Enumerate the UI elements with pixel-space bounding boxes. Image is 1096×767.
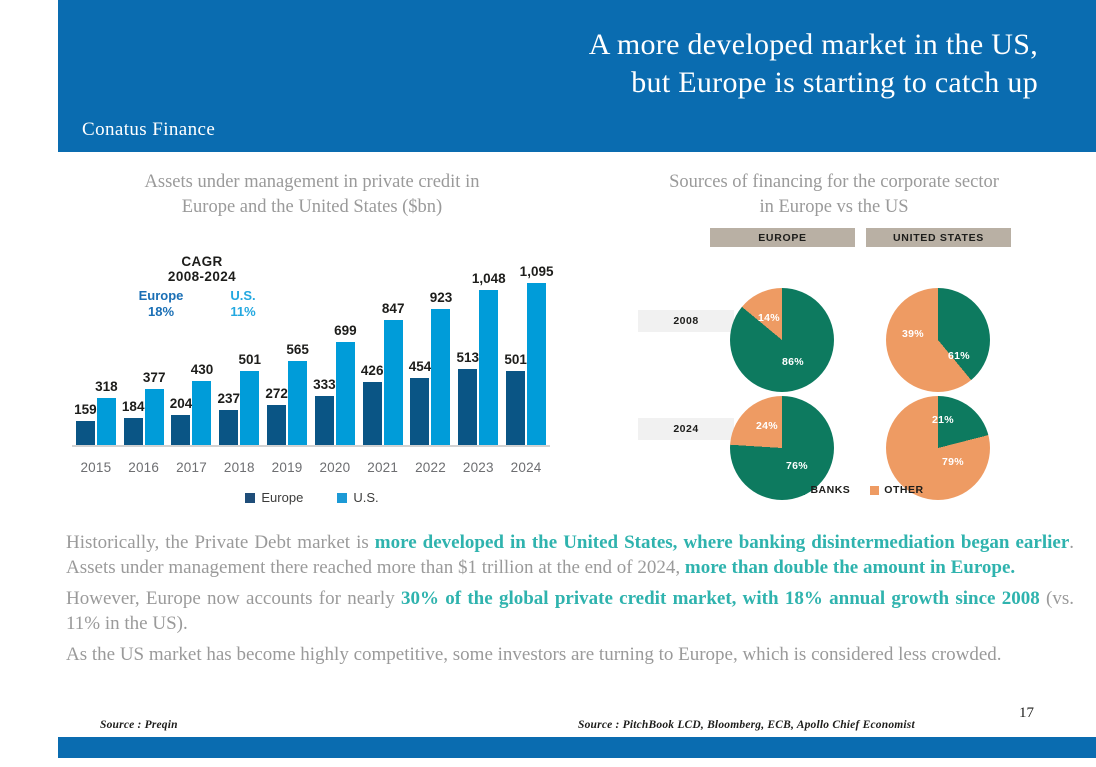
p2-highlight-1: 30% of the global private credit market,… xyxy=(401,588,1040,609)
bar-europe-2016: 184 xyxy=(124,418,143,445)
slide: A more developed market in the US, but E… xyxy=(0,0,1096,767)
x-axis-label-2023: 2023 xyxy=(452,460,504,475)
p1-highlight-2: more than double the amount in Europe. xyxy=(685,557,1015,578)
pie-column-header-europe: EUROPE xyxy=(710,228,855,247)
page-title-line2: but Europe is starting to catch up xyxy=(318,64,1038,102)
bar-group: 237501 xyxy=(215,277,263,445)
bar-group: 5131,048 xyxy=(454,277,502,445)
bar-us-2023: 1,048 xyxy=(479,290,498,445)
pie-slice-label-banks: 76% xyxy=(786,460,808,472)
bar-europe-2023: 513 xyxy=(458,369,477,445)
x-axis-label-2015: 2015 xyxy=(70,460,122,475)
source-note-left: Source : Preqin xyxy=(100,719,178,731)
bar-europe-2020: 333 xyxy=(315,396,334,445)
bar-value-label: 237 xyxy=(218,391,241,406)
legend-label-europe: Europe xyxy=(261,490,303,505)
page-number: 17 xyxy=(1019,705,1034,722)
pie-column-header-united-states: UNITED STATES xyxy=(866,228,1011,247)
square-icon xyxy=(796,486,805,495)
paragraph-1: Historically, the Private Debt market is… xyxy=(66,531,1074,580)
bar-value-label: 1,048 xyxy=(472,271,506,286)
bar-value-label: 1,095 xyxy=(520,264,554,279)
bar-group: 184377 xyxy=(120,277,168,445)
bar-value-label: 426 xyxy=(361,363,384,378)
bar-us-2022: 923 xyxy=(431,309,450,445)
bar-group: 426847 xyxy=(359,277,407,445)
p2-part-a: However, Europe now accounts for nearly xyxy=(66,588,401,609)
x-axis-label-2020: 2020 xyxy=(309,460,361,475)
bar-value-label: 272 xyxy=(265,386,288,401)
pie-row-label-2008: 2008 xyxy=(638,310,734,332)
bar-group: 333699 xyxy=(311,277,359,445)
brand-logo: Conatus Finance xyxy=(82,119,215,141)
right-chart-title: Sources of financing for the corporate s… xyxy=(588,170,1080,220)
bar-group: 272565 xyxy=(263,277,311,445)
bar-group: 5011,095 xyxy=(502,277,550,445)
bar-europe-2015: 159 xyxy=(76,421,95,445)
bar-plot-area: 1593181843772044302375012725653336994268… xyxy=(72,277,550,447)
left-chart-title-line1: Assets under management in private credi… xyxy=(62,170,562,195)
bar-value-label: 501 xyxy=(504,352,527,367)
bar-value-label: 377 xyxy=(143,370,166,385)
x-axis-label-2019: 2019 xyxy=(261,460,313,475)
pie-slice-label-other: 61% xyxy=(948,350,970,362)
bar-value-label: 318 xyxy=(95,379,118,394)
left-chart-title-line2: Europe and the United States ($bn) xyxy=(62,195,562,220)
p1-highlight-1: more developed in the United States, whe… xyxy=(375,532,1069,553)
bar-us-2016: 377 xyxy=(145,389,164,445)
square-icon xyxy=(337,493,347,503)
bar-group: 454923 xyxy=(407,277,455,445)
bar-value-label: 333 xyxy=(313,377,336,392)
body-text: Historically, the Private Debt market is… xyxy=(66,531,1074,675)
bar-value-label: 204 xyxy=(170,396,193,411)
bar-value-label: 847 xyxy=(382,301,405,316)
legend-label-us: U.S. xyxy=(353,490,378,505)
bar-value-label: 184 xyxy=(122,399,145,414)
bar-europe-2017: 204 xyxy=(171,415,190,445)
bar-us-2015: 318 xyxy=(97,398,116,445)
square-icon xyxy=(245,493,255,503)
bar-value-label: 699 xyxy=(334,323,357,338)
left-chart-title: Assets under management in private credi… xyxy=(62,170,562,220)
pie-slice-label-other: 24% xyxy=(756,420,778,432)
bar-us-2017: 430 xyxy=(192,381,211,445)
footer-band xyxy=(58,737,1096,758)
bar-europe-2018: 237 xyxy=(219,410,238,445)
bar-value-label: 513 xyxy=(457,350,480,365)
bar-chart-legend: Europe U.S. xyxy=(62,490,562,505)
page-title: A more developed market in the US, but E… xyxy=(318,26,1038,102)
x-axis-label-2018: 2018 xyxy=(213,460,265,475)
pie-chart-legend: BANKS OTHER xyxy=(710,484,1010,496)
bar-value-label: 923 xyxy=(430,290,453,305)
bar-us-2021: 847 xyxy=(384,320,403,445)
pie-slice-label-other: 79% xyxy=(942,456,964,468)
bar-europe-2022: 454 xyxy=(410,378,429,445)
bar-value-label: 565 xyxy=(286,342,309,357)
cagr-heading-line1: CAGR xyxy=(122,254,282,269)
bar-us-2024: 1,095 xyxy=(527,283,546,445)
paragraph-3: As the US market has become highly compe… xyxy=(66,643,1074,668)
bar-us-2018: 501 xyxy=(240,371,259,445)
pie-united-states-2008: 39%61% xyxy=(886,288,990,392)
bar-us-2020: 699 xyxy=(336,342,355,445)
x-axis-label-2016: 2016 xyxy=(118,460,170,475)
x-axis-label-2017: 2017 xyxy=(166,460,218,475)
pie-slice-label-banks: 39% xyxy=(902,328,924,340)
bar-chart: CAGR 2008-2024 Europe 18% U.S. 11% 15931… xyxy=(62,240,562,505)
pie-slice-label-banks: 86% xyxy=(782,356,804,368)
right-chart-title-line1: Sources of financing for the corporate s… xyxy=(588,170,1080,195)
bar-value-label: 159 xyxy=(74,402,97,417)
legend-label-other: OTHER xyxy=(884,484,923,496)
pie-europe-2008: 86%14% xyxy=(730,288,834,392)
pie-slice-label-other: 14% xyxy=(758,312,780,324)
legend-item-europe: Europe xyxy=(245,490,303,505)
bar-europe-2021: 426 xyxy=(363,382,382,445)
p1-part-a: Historically, the Private Debt market is xyxy=(66,532,375,553)
bar-value-label: 430 xyxy=(191,362,214,377)
paragraph-2: However, Europe now accounts for nearly … xyxy=(66,587,1074,636)
bar-europe-2024: 501 xyxy=(506,371,525,445)
x-axis-label-2024: 2024 xyxy=(500,460,552,475)
legend-item-us: U.S. xyxy=(337,490,378,505)
pie-row-label-2024: 2024 xyxy=(638,418,734,440)
right-chart-title-line2: in Europe vs the US xyxy=(588,195,1080,220)
bar-value-label: 501 xyxy=(239,352,262,367)
page-title-line1: A more developed market in the US, xyxy=(589,28,1038,61)
bar-group: 204430 xyxy=(168,277,216,445)
bar-value-label: 454 xyxy=(409,359,432,374)
bar-europe-2019: 272 xyxy=(267,405,286,445)
legend-item-other: OTHER xyxy=(870,484,923,496)
square-icon xyxy=(870,486,879,495)
x-axis-label-2021: 2021 xyxy=(357,460,409,475)
bar-group: 159318 xyxy=(72,277,120,445)
x-axis-label-2022: 2022 xyxy=(405,460,457,475)
source-note-right: Source : PitchBook LCD, Bloomberg, ECB, … xyxy=(578,719,915,731)
pie-chart-panel: EUROPE UNITED STATES 2008 2024 86%14%39%… xyxy=(600,228,1080,508)
legend-label-banks: BANKS xyxy=(810,484,850,496)
pie-slice-label-banks: 21% xyxy=(932,414,954,426)
bar-us-2019: 565 xyxy=(288,361,307,445)
legend-item-banks: BANKS xyxy=(796,484,850,496)
